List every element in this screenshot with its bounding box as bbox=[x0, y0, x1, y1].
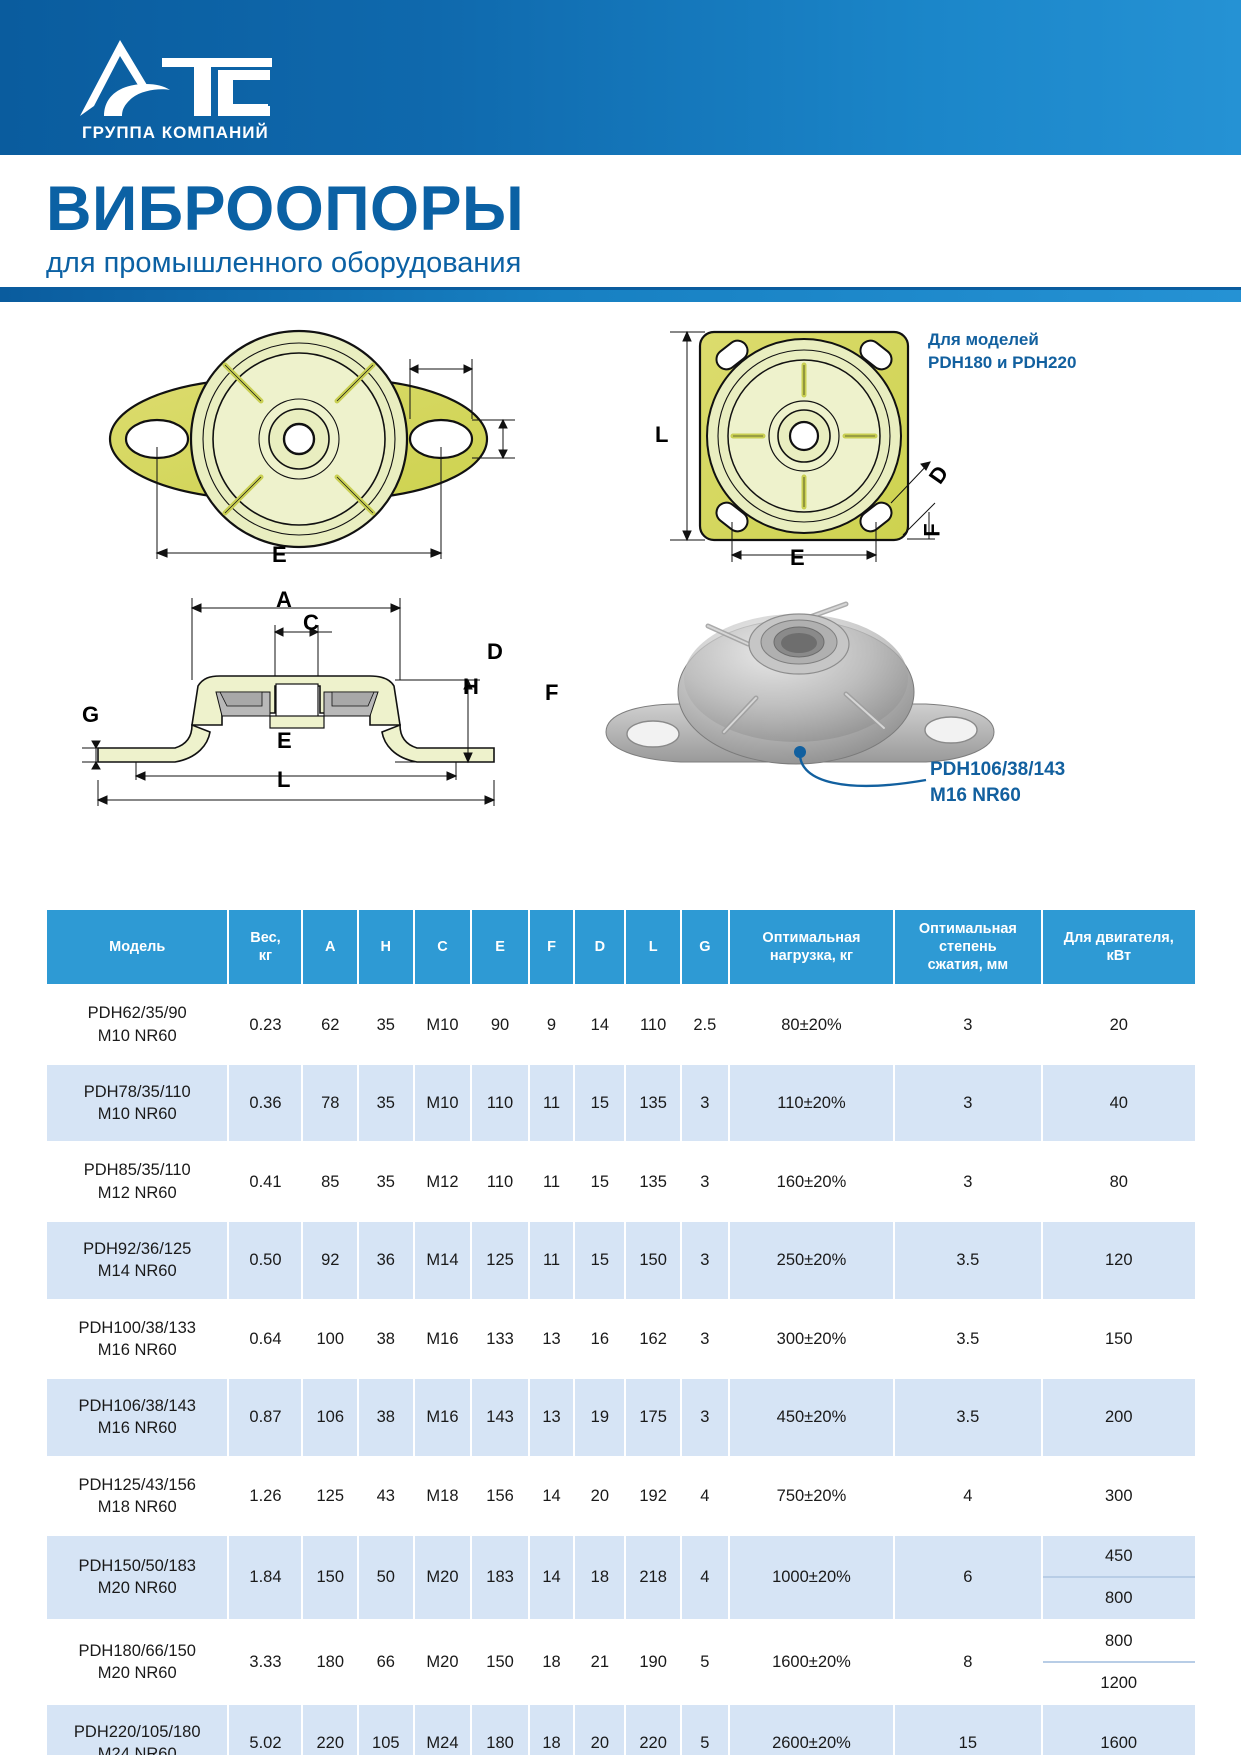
cell-h: 105 bbox=[359, 1705, 413, 1755]
cell-motor: 40 bbox=[1043, 1065, 1195, 1142]
cell-l: 135 bbox=[626, 1143, 680, 1220]
cell-d: 15 bbox=[575, 1222, 624, 1299]
cell-h: 35 bbox=[359, 1065, 413, 1142]
cell-model: PDH125/43/156 M18 NR60 bbox=[47, 1458, 227, 1535]
cell-a: 85 bbox=[303, 1143, 357, 1220]
cell-load: 450±20% bbox=[730, 1379, 893, 1456]
header-bar: ГРУППА КОМПАНИЙ TCC ГРУППА КОМПАНИЙ bbox=[0, 0, 1241, 155]
cell-e: 143 bbox=[472, 1379, 527, 1456]
dim-label-e-section: E bbox=[277, 728, 292, 754]
cell-motor: 1600 bbox=[1043, 1705, 1195, 1755]
cell-weight: 1.84 bbox=[229, 1536, 301, 1619]
cell-e: 183 bbox=[472, 1536, 527, 1619]
cell-d: 20 bbox=[575, 1705, 624, 1755]
tcc-logo: ГРУППА КОМПАНИЙ TCC ГРУППА КОМПАНИЙ bbox=[42, 28, 282, 138]
cell-g: 4 bbox=[682, 1458, 728, 1535]
cell-compression: 4 bbox=[895, 1458, 1040, 1535]
page-subtitle: для промышленного оборудования bbox=[46, 249, 524, 278]
col-header-load: Оптимальная нагрузка, кг bbox=[730, 910, 893, 984]
cell-e: 156 bbox=[472, 1458, 527, 1535]
cell-model: PDH85/35/110 M12 NR60 bbox=[47, 1143, 227, 1220]
cell-f: 11 bbox=[530, 1222, 574, 1299]
note-line-1: Для моделей bbox=[928, 329, 1076, 352]
table-header-row: Модель Вес, кг A H C E F D L G Оптимальн… bbox=[47, 910, 1195, 984]
table-row: PDH220/105/180 M24 NR605.02220105M241801… bbox=[47, 1705, 1195, 1755]
cell-model: PDH150/50/183 M20 NR60 bbox=[47, 1536, 227, 1619]
col-header-a: A bbox=[303, 910, 357, 984]
cell-a: 125 bbox=[303, 1458, 357, 1535]
square-flange-top-view bbox=[645, 307, 945, 567]
cell-motor: 8001200 bbox=[1043, 1621, 1195, 1704]
cell-g: 2.5 bbox=[682, 986, 728, 1063]
cell-h: 50 bbox=[359, 1536, 413, 1619]
col-header-weight: Вес, кг bbox=[229, 910, 301, 984]
title-block: ВИБРООПОРЫ для промышленного оборудовани… bbox=[46, 178, 524, 278]
cell-c: M20 bbox=[415, 1536, 471, 1619]
cell-a: 106 bbox=[303, 1379, 357, 1456]
col-header-e: E bbox=[472, 910, 527, 984]
spec-table-wrapper: Модель Вес, кг A H C E F D L G Оптимальн… bbox=[45, 908, 1197, 1755]
cell-a: 78 bbox=[303, 1065, 357, 1142]
cell-f: 14 bbox=[530, 1458, 574, 1535]
table-row: PDH180/66/150 M20 NR603.3318066M20150182… bbox=[47, 1621, 1195, 1704]
note-line-2: PDH180 и PDH220 bbox=[928, 352, 1076, 375]
cell-weight: 0.41 bbox=[229, 1143, 301, 1220]
cell-load: 300±20% bbox=[730, 1301, 893, 1378]
callout-line-2: M16 NR60 bbox=[930, 783, 1065, 809]
table-row: PDH62/35/90 M10 NR600.236235M10909141102… bbox=[47, 986, 1195, 1063]
cell-a: 92 bbox=[303, 1222, 357, 1299]
cell-weight: 0.23 bbox=[229, 986, 301, 1063]
cell-compression: 3.5 bbox=[895, 1379, 1040, 1456]
cell-load: 750±20% bbox=[730, 1458, 893, 1535]
cell-weight: 0.50 bbox=[229, 1222, 301, 1299]
dim-label-g-section: G bbox=[82, 702, 99, 728]
cell-g: 3 bbox=[682, 1301, 728, 1378]
dim-label-h-section: H bbox=[463, 674, 479, 700]
divider-thick bbox=[0, 290, 1241, 302]
dim-label-f-oval: F bbox=[545, 680, 558, 706]
cell-d: 19 bbox=[575, 1379, 624, 1456]
cell-c: M16 bbox=[415, 1379, 471, 1456]
cell-f: 9 bbox=[530, 986, 574, 1063]
cell-f: 11 bbox=[530, 1143, 574, 1220]
cell-compression: 3 bbox=[895, 1065, 1040, 1142]
table-row: PDH78/35/110 M10 NR600.367835M1011011151… bbox=[47, 1065, 1195, 1142]
cell-a: 150 bbox=[303, 1536, 357, 1619]
logo-subtitle-text: ГРУППА КОМПАНИЙ bbox=[82, 123, 269, 140]
cell-l: 175 bbox=[626, 1379, 680, 1456]
cell-motor-sub: 800 bbox=[1043, 1621, 1195, 1663]
cell-f: 18 bbox=[530, 1621, 574, 1704]
cell-motor: 80 bbox=[1043, 1143, 1195, 1220]
cell-l: 162 bbox=[626, 1301, 680, 1378]
table-row: PDH92/36/125 M14 NR600.509236M1412511151… bbox=[47, 1222, 1195, 1299]
cell-l: 110 bbox=[626, 986, 680, 1063]
cell-a: 180 bbox=[303, 1621, 357, 1704]
cell-f: 13 bbox=[530, 1379, 574, 1456]
cell-e: 110 bbox=[472, 1065, 527, 1142]
cell-model: PDH100/38/133 M16 NR60 bbox=[47, 1301, 227, 1378]
cell-l: 150 bbox=[626, 1222, 680, 1299]
cell-load: 2600±20% bbox=[730, 1705, 893, 1755]
cell-d: 21 bbox=[575, 1621, 624, 1704]
cell-compression: 3 bbox=[895, 1143, 1040, 1220]
cell-motor: 200 bbox=[1043, 1379, 1195, 1456]
cell-h: 38 bbox=[359, 1301, 413, 1378]
cell-compression: 3 bbox=[895, 986, 1040, 1063]
cell-weight: 5.02 bbox=[229, 1705, 301, 1755]
cell-l: 190 bbox=[626, 1621, 680, 1704]
cell-motor: 20 bbox=[1043, 986, 1195, 1063]
cell-e: 125 bbox=[472, 1222, 527, 1299]
cell-l: 218 bbox=[626, 1536, 680, 1619]
table-row: PDH125/43/156 M18 NR601.2612543M18156142… bbox=[47, 1458, 1195, 1535]
cell-e: 90 bbox=[472, 986, 527, 1063]
cell-d: 16 bbox=[575, 1301, 624, 1378]
cell-weight: 0.87 bbox=[229, 1379, 301, 1456]
cell-model: PDH62/35/90 M10 NR60 bbox=[47, 986, 227, 1063]
spec-table-body: PDH62/35/90 M10 NR600.236235M10909141102… bbox=[47, 986, 1195, 1755]
section-l-dimension bbox=[70, 780, 500, 820]
cell-h: 66 bbox=[359, 1621, 413, 1704]
cell-d: 20 bbox=[575, 1458, 624, 1535]
cell-h: 35 bbox=[359, 986, 413, 1063]
col-header-g: G bbox=[682, 910, 728, 984]
cell-d: 18 bbox=[575, 1536, 624, 1619]
col-header-compression: Оптимальная степень сжатия, мм bbox=[895, 910, 1040, 984]
cell-c: M16 bbox=[415, 1301, 471, 1378]
cell-l: 220 bbox=[626, 1705, 680, 1755]
cell-h: 38 bbox=[359, 1379, 413, 1456]
cell-c: M12 bbox=[415, 1143, 471, 1220]
cell-compression: 3.5 bbox=[895, 1222, 1040, 1299]
cell-c: M10 bbox=[415, 986, 471, 1063]
cell-weight: 3.33 bbox=[229, 1621, 301, 1704]
cell-motor: 450800 bbox=[1043, 1536, 1195, 1619]
cell-c: M18 bbox=[415, 1458, 471, 1535]
callout-line-1: PDH106/38/143 bbox=[930, 757, 1065, 783]
cell-g: 3 bbox=[682, 1065, 728, 1142]
cell-c: M10 bbox=[415, 1065, 471, 1142]
col-header-model: Модель bbox=[47, 910, 227, 984]
cell-compression: 6 bbox=[895, 1536, 1040, 1619]
cell-load: 80±20% bbox=[730, 986, 893, 1063]
datasheet-page: ГРУППА КОМПАНИЙ TCC ГРУППА КОМПАНИЙ ВИБР… bbox=[0, 0, 1241, 1755]
dim-label-e-square: E bbox=[790, 545, 805, 571]
col-header-d: D bbox=[575, 910, 624, 984]
cell-h: 43 bbox=[359, 1458, 413, 1535]
cell-motor-sub: 450 bbox=[1043, 1536, 1195, 1578]
cell-weight: 0.64 bbox=[229, 1301, 301, 1378]
cell-a: 220 bbox=[303, 1705, 357, 1755]
cell-d: 14 bbox=[575, 986, 624, 1063]
cell-weight: 0.36 bbox=[229, 1065, 301, 1142]
cell-g: 5 bbox=[682, 1705, 728, 1755]
cell-f: 11 bbox=[530, 1065, 574, 1142]
cell-a: 62 bbox=[303, 986, 357, 1063]
dim-label-l-square: L bbox=[655, 422, 668, 448]
cell-g: 3 bbox=[682, 1222, 728, 1299]
cell-f: 14 bbox=[530, 1536, 574, 1619]
cell-weight: 1.26 bbox=[229, 1458, 301, 1535]
table-row: PDH100/38/133 M16 NR600.6410038M16133131… bbox=[47, 1301, 1195, 1378]
page-title: ВИБРООПОРЫ bbox=[46, 178, 524, 241]
cell-g: 3 bbox=[682, 1379, 728, 1456]
cell-c: M24 bbox=[415, 1705, 471, 1755]
cell-motor: 120 bbox=[1043, 1222, 1195, 1299]
cell-f: 18 bbox=[530, 1705, 574, 1755]
cell-model: PDH220/105/180 M24 NR60 bbox=[47, 1705, 227, 1755]
cell-load: 1000±20% bbox=[730, 1536, 893, 1619]
oval-flange-top-view bbox=[75, 307, 525, 577]
col-header-c: C bbox=[415, 910, 471, 984]
cell-model: PDH180/66/150 M20 NR60 bbox=[47, 1621, 227, 1704]
col-header-h: H bbox=[359, 910, 413, 984]
cell-f: 13 bbox=[530, 1301, 574, 1378]
dim-label-c-section: C bbox=[303, 610, 319, 636]
cell-e: 110 bbox=[472, 1143, 527, 1220]
dim-label-e-oval: E bbox=[272, 542, 287, 568]
cell-model: PDH78/35/110 M10 NR60 bbox=[47, 1065, 227, 1142]
table-row: PDH85/35/110 M12 NR600.418535M1211011151… bbox=[47, 1143, 1195, 1220]
spec-table-head: Модель Вес, кг A H C E F D L G Оптимальн… bbox=[47, 910, 1195, 984]
cell-d: 15 bbox=[575, 1065, 624, 1142]
cell-e: 133 bbox=[472, 1301, 527, 1378]
cell-model: PDH92/36/125 M14 NR60 bbox=[47, 1222, 227, 1299]
cell-motor: 150 bbox=[1043, 1301, 1195, 1378]
cell-compression: 15 bbox=[895, 1705, 1040, 1755]
cell-motor: 300 bbox=[1043, 1458, 1195, 1535]
cell-motor-sub: 1200 bbox=[1043, 1663, 1195, 1703]
cell-g: 3 bbox=[682, 1143, 728, 1220]
cell-load: 250±20% bbox=[730, 1222, 893, 1299]
diagram-area: D F E bbox=[0, 302, 1241, 802]
square-flange-note: Для моделей PDH180 и PDH220 bbox=[928, 329, 1076, 375]
cell-g: 4 bbox=[682, 1536, 728, 1619]
cell-compression: 3.5 bbox=[895, 1301, 1040, 1378]
dim-label-a-section: A bbox=[276, 587, 292, 613]
cell-compression: 8 bbox=[895, 1621, 1040, 1704]
cell-load: 110±20% bbox=[730, 1065, 893, 1142]
cell-d: 15 bbox=[575, 1143, 624, 1220]
cell-e: 150 bbox=[472, 1621, 527, 1704]
cell-load: 1600±20% bbox=[730, 1621, 893, 1704]
cell-l: 192 bbox=[626, 1458, 680, 1535]
spec-table: Модель Вес, кг A H C E F D L G Оптимальн… bbox=[45, 908, 1197, 1755]
cell-l: 135 bbox=[626, 1065, 680, 1142]
cell-model: PDH106/38/143 M16 NR60 bbox=[47, 1379, 227, 1456]
cell-c: M14 bbox=[415, 1222, 471, 1299]
photo-callout-label: PDH106/38/143 M16 NR60 bbox=[930, 757, 1065, 808]
col-header-l: L bbox=[626, 910, 680, 984]
table-row: PDH150/50/183 M20 NR601.8415050M20183141… bbox=[47, 1536, 1195, 1619]
dim-label-f-square: F bbox=[920, 523, 946, 536]
cell-c: M20 bbox=[415, 1621, 471, 1704]
col-header-motor: Для двигателя, кВт bbox=[1043, 910, 1195, 984]
cell-g: 5 bbox=[682, 1621, 728, 1704]
cell-h: 36 bbox=[359, 1222, 413, 1299]
col-header-f: F bbox=[530, 910, 574, 984]
cell-load: 160±20% bbox=[730, 1143, 893, 1220]
table-row: PDH106/38/143 M16 NR600.8710638M16143131… bbox=[47, 1379, 1195, 1456]
cell-motor-sub: 800 bbox=[1043, 1578, 1195, 1618]
cell-h: 35 bbox=[359, 1143, 413, 1220]
cell-a: 100 bbox=[303, 1301, 357, 1378]
cell-e: 180 bbox=[472, 1705, 527, 1755]
